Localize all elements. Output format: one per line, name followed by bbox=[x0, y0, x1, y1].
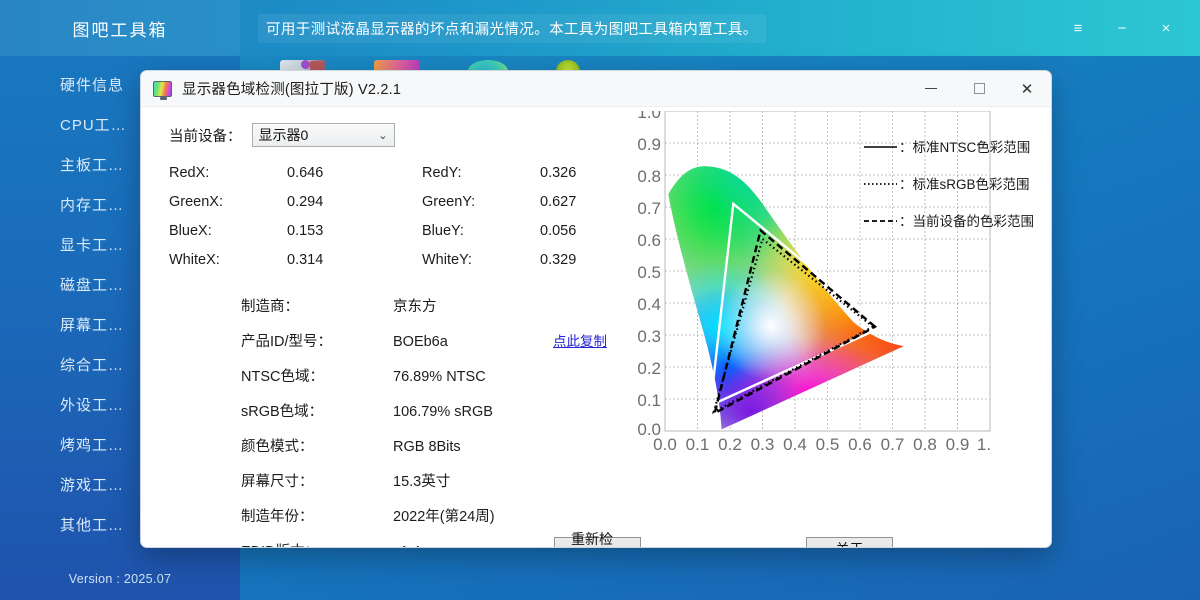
app-brand-title: 图吧工具箱 bbox=[73, 16, 168, 41]
x-axis-ticks: 0.0 0.1 0.2 0.3 0.4 0.5 0.6 0.7 0.8 0.9 … bbox=[653, 435, 991, 454]
menu-icon[interactable]: ≡ bbox=[1058, 10, 1098, 46]
manufacture-year-value: 2022年(第24周) bbox=[393, 505, 553, 526]
device-label: 当前设备： bbox=[169, 125, 242, 146]
svg-text:0.1: 0.1 bbox=[686, 435, 710, 454]
svg-text:1.: 1. bbox=[977, 435, 991, 454]
screen-size-label: 屏幕尺寸： bbox=[241, 470, 393, 491]
version-label: Version : 2025.07 bbox=[0, 572, 240, 600]
app-window-controls: ≡ − × bbox=[1058, 0, 1200, 56]
device-select[interactable]: 显示器0 ⌄ bbox=[252, 123, 395, 147]
header-description: 可用于测试液晶显示器的坏点和漏光情况。本工具为图吧工具箱内置工具。 bbox=[258, 14, 766, 43]
svg-text:0.9: 0.9 bbox=[637, 135, 661, 154]
srgb-gamut-label: sRGB色域： bbox=[241, 400, 393, 421]
dialog-minimize-icon[interactable] bbox=[907, 71, 955, 106]
color-mode-label: 颜色模式： bbox=[241, 435, 393, 456]
manufacture-year-label: 制造年份： bbox=[241, 505, 393, 526]
svg-text:0.3: 0.3 bbox=[637, 327, 661, 346]
svg-text:0.1: 0.1 bbox=[637, 391, 661, 410]
product-id-label: 产品ID/型号： bbox=[241, 330, 393, 351]
svg-text:0.5: 0.5 bbox=[637, 263, 661, 282]
legend-label-srgb: ：标准sRGB色彩范围 bbox=[899, 176, 1030, 192]
svg-text:0.4: 0.4 bbox=[783, 435, 807, 454]
cie-chromaticity-chart: 1.0 0.9 0.8 0.7 0.6 0.5 0.4 0.3 0.2 0.1 … bbox=[631, 111, 1051, 471]
ntsc-gamut-value: 76.89% NTSC bbox=[393, 369, 553, 385]
bluex-label: BlueX: bbox=[169, 223, 287, 239]
svg-text:1.0: 1.0 bbox=[637, 111, 661, 122]
whitey-value: 0.329 bbox=[540, 252, 620, 268]
device-select-value: 显示器0 bbox=[259, 125, 309, 145]
legend-label-ntsc: ：标准NTSC色彩范围 bbox=[899, 139, 1030, 155]
app-header-bar: 图吧工具箱 可用于测试液晶显示器的坏点和漏光情况。本工具为图吧工具箱内置工具。 … bbox=[0, 0, 1200, 56]
whitex-label: WhiteX: bbox=[169, 252, 287, 268]
whitex-value: 0.314 bbox=[287, 252, 422, 268]
chevron-down-icon: ⌄ bbox=[378, 129, 387, 142]
greenx-value: 0.294 bbox=[287, 194, 422, 210]
bluex-value: 0.153 bbox=[287, 223, 422, 239]
redx-label: RedX: bbox=[169, 165, 287, 181]
srgb-gamut-value: 106.79% sRGB bbox=[393, 404, 553, 420]
edid-version-label: EDID版本： bbox=[241, 540, 393, 548]
close-icon[interactable]: × bbox=[1146, 10, 1186, 46]
redx-value: 0.646 bbox=[287, 165, 422, 181]
greeny-label: GreenY: bbox=[422, 194, 540, 210]
brand-area: 图吧工具箱 bbox=[0, 0, 240, 56]
color-mode-value: RGB 8Bits bbox=[393, 439, 553, 455]
redy-label: RedY: bbox=[422, 165, 540, 181]
svg-text:0.6: 0.6 bbox=[637, 231, 661, 250]
svg-text:0.3: 0.3 bbox=[751, 435, 775, 454]
greenx-label: GreenX: bbox=[169, 194, 287, 210]
whitey-label: WhiteY: bbox=[422, 252, 540, 268]
svg-text:0.7: 0.7 bbox=[881, 435, 905, 454]
legend-label-device: ：当前设备的色彩范围 bbox=[899, 213, 1034, 229]
bluey-value: 0.056 bbox=[540, 223, 620, 239]
bluey-label: BlueY: bbox=[422, 223, 540, 239]
svg-text:0.5: 0.5 bbox=[816, 435, 840, 454]
monitor-icon bbox=[153, 81, 172, 97]
svg-text:0.8: 0.8 bbox=[913, 435, 937, 454]
minimize-icon[interactable]: − bbox=[1102, 10, 1142, 46]
chromaticity-diagram-svg: 1.0 0.9 0.8 0.7 0.6 0.5 0.4 0.3 0.2 0.1 … bbox=[631, 111, 1051, 471]
svg-text:0.2: 0.2 bbox=[637, 359, 661, 378]
dialog-title: 显示器色域检测(图拉丁版) V2.2.1 bbox=[182, 78, 401, 99]
svg-text:0.4: 0.4 bbox=[637, 295, 661, 314]
copy-link[interactable]: 点此复制 bbox=[553, 330, 623, 350]
device-selector-row: 当前设备： 显示器0 ⌄ bbox=[169, 123, 641, 147]
dialog-window-controls: ✕ bbox=[907, 71, 1051, 106]
greeny-value: 0.627 bbox=[540, 194, 620, 210]
dialog-titlebar[interactable]: 显示器色域检测(图拉丁版) V2.2.1 ✕ bbox=[141, 71, 1051, 107]
svg-text:0.0: 0.0 bbox=[653, 435, 677, 454]
header-description-wrap: 可用于测试液晶显示器的坏点和漏光情况。本工具为图吧工具箱内置工具。 bbox=[240, 0, 1058, 56]
svg-text:0.2: 0.2 bbox=[718, 435, 742, 454]
color-gamut-dialog: 显示器色域检测(图拉丁版) V2.2.1 ✕ 当前设备： 显示器0 ⌄ RedX… bbox=[140, 70, 1052, 548]
dialog-body: 当前设备： 显示器0 ⌄ RedX: 0.646 RedY: 0.326 Gre… bbox=[141, 107, 1051, 548]
dialog-maximize-icon[interactable] bbox=[955, 71, 1003, 106]
edid-version-value: v1.4 bbox=[393, 544, 553, 548]
dialog-close-icon[interactable]: ✕ bbox=[1003, 71, 1051, 106]
svg-text:0.8: 0.8 bbox=[637, 167, 661, 186]
monitor-details-grid: 制造商： 京东方 产品ID/型号： BOEb6a 点此复制 NTSC色域： 76… bbox=[241, 295, 631, 548]
svg-text:0.6: 0.6 bbox=[848, 435, 872, 454]
manufacturer-label: 制造商： bbox=[241, 295, 393, 316]
redy-value: 0.326 bbox=[540, 165, 620, 181]
info-panel: 当前设备： 显示器0 ⌄ RedX: 0.646 RedY: 0.326 Gre… bbox=[141, 107, 641, 548]
y-axis-ticks: 1.0 0.9 0.8 0.7 0.6 0.5 0.4 0.3 0.2 0.1 … bbox=[637, 111, 661, 439]
svg-text:0.9: 0.9 bbox=[946, 435, 970, 454]
product-id-value: BOEb6a bbox=[393, 334, 553, 350]
ntsc-gamut-label: NTSC色域： bbox=[241, 365, 393, 386]
about-button[interactable]: 关于 bbox=[806, 537, 893, 548]
manufacturer-value: 京东方 bbox=[393, 295, 553, 316]
svg-text:0.7: 0.7 bbox=[637, 199, 661, 218]
chromaticity-coordinates-grid: RedX: 0.646 RedY: 0.326 GreenX: 0.294 Gr… bbox=[169, 165, 629, 268]
screen-size-value: 15.3英寸 bbox=[393, 470, 553, 491]
recheck-button[interactable]: 重新检测 bbox=[554, 537, 641, 548]
